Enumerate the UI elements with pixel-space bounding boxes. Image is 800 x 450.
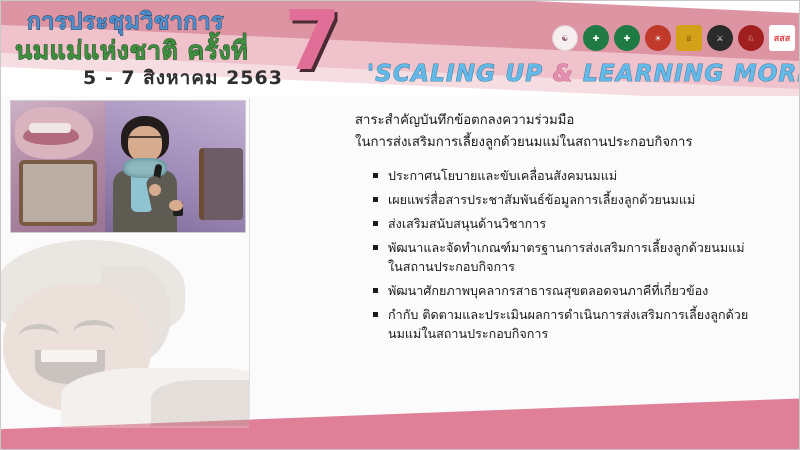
smiling-child-photo (1, 238, 249, 428)
backdrop-mouth-graphic (15, 107, 93, 159)
conference-date: 5 - 7 สิงหาคม 2563 (83, 63, 283, 93)
mahidol-university-logo: ⚔ (707, 25, 733, 51)
thai-national-emblem-logo: ♕ (676, 25, 702, 51)
garuda-seal-logo: ♘ (738, 25, 764, 51)
speaker-hand-second (169, 200, 183, 211)
speaker-hand (149, 184, 161, 196)
content-divider (249, 98, 250, 418)
chair-right (199, 148, 243, 220)
thaihealth-sss-logo: สสส (769, 25, 795, 51)
speaker-figure (103, 114, 187, 232)
department-of-health-logo: ✚ (614, 25, 640, 51)
list-item: พัฒนาและจัดทำเกณฑ์มาตรฐานการส่งเสริมการเ… (373, 238, 753, 276)
lead-line-1: สาระสำคัญบันทึกข้อตกลงความร่วมมือ (355, 110, 765, 132)
list-item: กำกับ ติดตามและประเมินผลการดำเนินการส่งเ… (373, 305, 753, 343)
list-item: ส่งเสริมสนับสนุนด้านวิชาการ (373, 214, 753, 233)
tagline-part-before: 'SCALING UP (367, 61, 553, 87)
tagline-part-after: LEARNING MORE' (574, 61, 800, 87)
speaker-glasses (128, 136, 162, 144)
list-item: ประกาศนโยบายและขับเคลื่อนสังคมนมแม่ (373, 166, 753, 185)
child-teeth (41, 350, 97, 362)
speaker-video-thumbnail[interactable] (10, 100, 246, 233)
child-shoulder (151, 380, 249, 426)
list-item: เผยแพร่สื่อสารประชาสัมพันธ์ข้อมูลการเลี้… (373, 190, 753, 209)
media-column (1, 96, 249, 450)
list-item: พัฒนาศักยภาพบุคลากรสาธารณสุขตลอดจนภาคีที… (373, 281, 753, 300)
speaker-face (128, 126, 162, 162)
tagline-ampersand: & (553, 61, 574, 87)
thai-breastfeeding-foundation-logo: ☯ (552, 25, 578, 51)
chair-left (19, 160, 97, 226)
slide-header-banner: การประชุมวิชาการ นมแม่แห่งชาติ ครั้งที่ … (1, 1, 800, 96)
lead-line-2: ในการส่งเสริมการเลี้ยงลูกด้วยนมแม่ในสถาน… (355, 132, 765, 154)
ministry-of-public-health-logo: ✚ (583, 25, 609, 51)
conference-edition-number: 7 (284, 1, 339, 83)
presentation-slide: การประชุมวิชาการ นมแม่แห่งชาติ ครั้งที่ … (0, 0, 800, 450)
content-text-block: สาระสำคัญบันทึกข้อตกลงความร่วมมือ ในการส… (263, 96, 783, 450)
sponsor-logo-row: ☯ ✚ ✚ ☀ ♕ ⚔ ♘ สสส (552, 25, 795, 51)
slide-body: สาระสำคัญบันทึกข้อตกลงความร่วมมือ ในการส… (1, 96, 800, 450)
bullet-list: ประกาศนโยบายและขับเคลื่อนสังคมนมแม่ เผยแ… (355, 166, 765, 343)
conference-tagline: 'SCALING UP & LEARNING MORE' (367, 61, 800, 87)
royal-emblem-logo: ☀ (645, 25, 671, 51)
